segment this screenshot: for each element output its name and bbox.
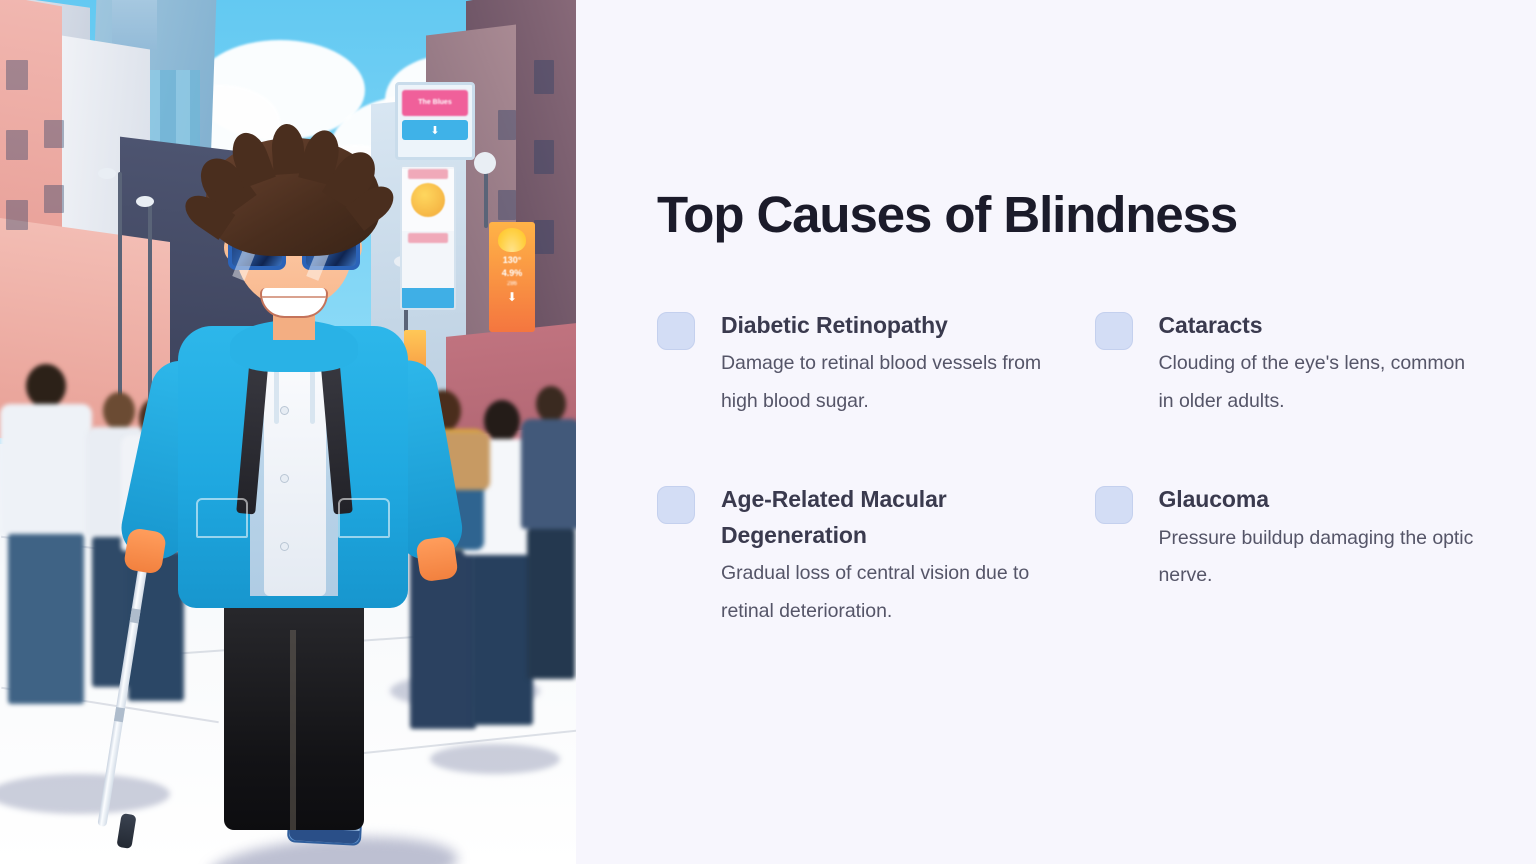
window bbox=[498, 110, 516, 140]
banner-percent: 4.9% bbox=[502, 268, 523, 278]
billboard-arrow-icon: ⬇ bbox=[402, 120, 468, 140]
cause-card-cataracts[interactable]: Cataracts Clouding of the eye's lens, co… bbox=[1095, 308, 1481, 420]
shell-logo-icon bbox=[498, 228, 526, 252]
cause-heading: Cataracts bbox=[1159, 308, 1481, 343]
causes-grid: Diabetic Retinopathy Damage to retinal b… bbox=[657, 308, 1480, 630]
poster-text-line bbox=[408, 169, 448, 179]
cause-description: Clouding of the eye's lens, common in ol… bbox=[1159, 345, 1481, 420]
cause-heading: Glaucoma bbox=[1159, 482, 1481, 517]
window bbox=[534, 140, 554, 174]
pedestrian bbox=[520, 386, 576, 679]
pedestrian bbox=[0, 364, 94, 704]
smile bbox=[260, 288, 328, 318]
square-icon bbox=[1095, 486, 1133, 524]
window bbox=[534, 60, 554, 94]
cause-card-text: Diabetic Retinopathy Damage to retinal b… bbox=[721, 308, 1043, 420]
cause-description: Pressure buildup damaging the optic nerv… bbox=[1159, 520, 1481, 595]
square-icon bbox=[657, 486, 695, 524]
cause-card-text: Age-Related Macular Degeneration Gradual… bbox=[721, 482, 1043, 630]
banner-subtext: 286 bbox=[507, 281, 517, 287]
left-hand bbox=[123, 527, 167, 574]
lamp-post bbox=[148, 200, 152, 400]
window bbox=[534, 220, 554, 254]
window bbox=[6, 130, 28, 160]
right-hand bbox=[415, 536, 458, 583]
poster-text-line bbox=[408, 233, 448, 243]
cause-card-text: Glaucoma Pressure buildup damaging the o… bbox=[1159, 482, 1481, 594]
ground-shadow bbox=[0, 774, 170, 814]
banner-temperature: 130° bbox=[503, 255, 522, 265]
poster-top bbox=[402, 169, 454, 231]
jacket-button bbox=[280, 542, 289, 551]
poster-bottom-bar bbox=[402, 288, 454, 308]
lamp-head-icon bbox=[136, 196, 154, 207]
content-panel: Top Causes of Blindness Diabetic Retinop… bbox=[576, 0, 1536, 864]
window bbox=[6, 60, 28, 90]
jacket-pocket bbox=[338, 498, 390, 538]
square-icon bbox=[1095, 312, 1133, 350]
jacket-pocket bbox=[196, 498, 248, 538]
page-title: Top Causes of Blindness bbox=[657, 186, 1237, 243]
cause-description: Damage to retinal blood vessels from hig… bbox=[721, 345, 1043, 420]
skyscraper-spire bbox=[112, 0, 157, 50]
orange-banner-sign: 130° 4.9% 286 ⬇ bbox=[489, 222, 535, 332]
cause-card-text: Cataracts Clouding of the eye's lens, co… bbox=[1159, 308, 1481, 420]
cause-card-diabetic-retinopathy[interactable]: Diabetic Retinopathy Damage to retinal b… bbox=[657, 308, 1043, 420]
cause-heading: Age-Related Macular Degeneration bbox=[721, 482, 1041, 553]
jacket-button bbox=[280, 406, 289, 415]
boy-with-white-cane bbox=[178, 138, 408, 838]
lamp-post bbox=[118, 172, 122, 412]
window bbox=[44, 185, 64, 213]
lamp-globe-icon bbox=[474, 152, 496, 174]
cause-card-glaucoma[interactable]: Glaucoma Pressure buildup damaging the o… bbox=[1095, 482, 1481, 630]
poster-sign bbox=[400, 165, 456, 310]
window bbox=[498, 190, 516, 220]
jacket-button bbox=[280, 474, 289, 483]
ground-shadow bbox=[430, 744, 560, 774]
banner-arrow-icon: ⬇ bbox=[507, 290, 517, 304]
black-pants bbox=[224, 590, 364, 830]
cause-description: Gradual loss of central vision due to re… bbox=[721, 555, 1043, 630]
illustration-panel: The Blues ⬇ 130° 4.9% 286 ⬇ AKE bbox=[0, 0, 576, 864]
billboard-pink-text: The Blues bbox=[402, 90, 468, 116]
lamp-head-icon bbox=[98, 168, 116, 179]
square-icon bbox=[657, 312, 695, 350]
window bbox=[6, 200, 28, 230]
cause-card-age-related-macular-degeneration[interactable]: Age-Related Macular Degeneration Gradual… bbox=[657, 482, 1043, 630]
mascot-icon bbox=[411, 183, 445, 217]
cause-heading: Diabetic Retinopathy bbox=[721, 308, 1043, 343]
window bbox=[44, 120, 64, 148]
